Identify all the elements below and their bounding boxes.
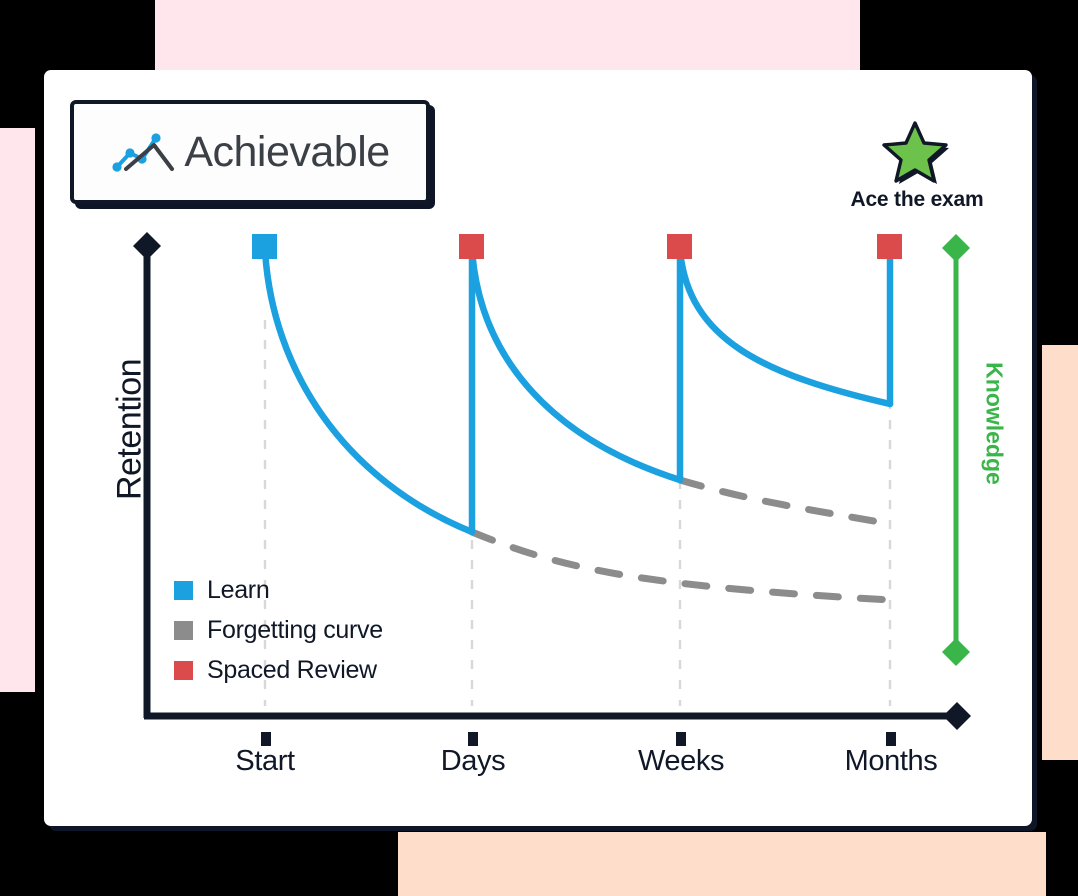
legend-item-learn: Learn xyxy=(174,570,383,610)
legend-swatch-learn xyxy=(174,581,193,600)
chart-card: Achievable Ace the exam xyxy=(44,70,1032,826)
x-axis xyxy=(144,702,971,730)
legend-label-spaced-review: Spaced Review xyxy=(207,656,377,685)
learn-marker xyxy=(252,234,277,259)
knowledge-range-arrow xyxy=(942,234,970,666)
decoration-right-peach-block xyxy=(1042,345,1078,760)
decoration-bottom-peach-block xyxy=(398,832,1046,896)
x-tick-label-months: Months xyxy=(811,745,971,778)
x-tick-label-weeks: Weeks xyxy=(601,745,761,778)
legend-swatch-forgetting-curve xyxy=(174,621,193,640)
decoration-left-pink-block xyxy=(0,128,35,692)
x-axis-ticks xyxy=(261,732,896,746)
retention-curve xyxy=(265,250,890,532)
legend-item-spaced-review: Spaced Review xyxy=(174,650,383,690)
legend-item-forgetting-curve: Forgetting curve xyxy=(174,610,383,650)
x-tick-label-start: Start xyxy=(185,745,345,778)
legend-swatch-spaced-review xyxy=(174,661,193,680)
decoration-top-pink-block xyxy=(155,0,860,70)
y-axis-title: Retention xyxy=(111,320,150,540)
legend-label-learn: Learn xyxy=(207,576,269,605)
legend-label-forgetting-curve: Forgetting curve xyxy=(207,616,383,645)
chart-legend: Learn Forgetting curve Spaced Review xyxy=(174,570,383,690)
x-tick-label-days: Days xyxy=(393,745,553,778)
retention-chart-plot xyxy=(44,70,1032,826)
spaced-review-markers xyxy=(459,234,902,259)
knowledge-annotation-label: Knowledge xyxy=(981,324,1008,524)
